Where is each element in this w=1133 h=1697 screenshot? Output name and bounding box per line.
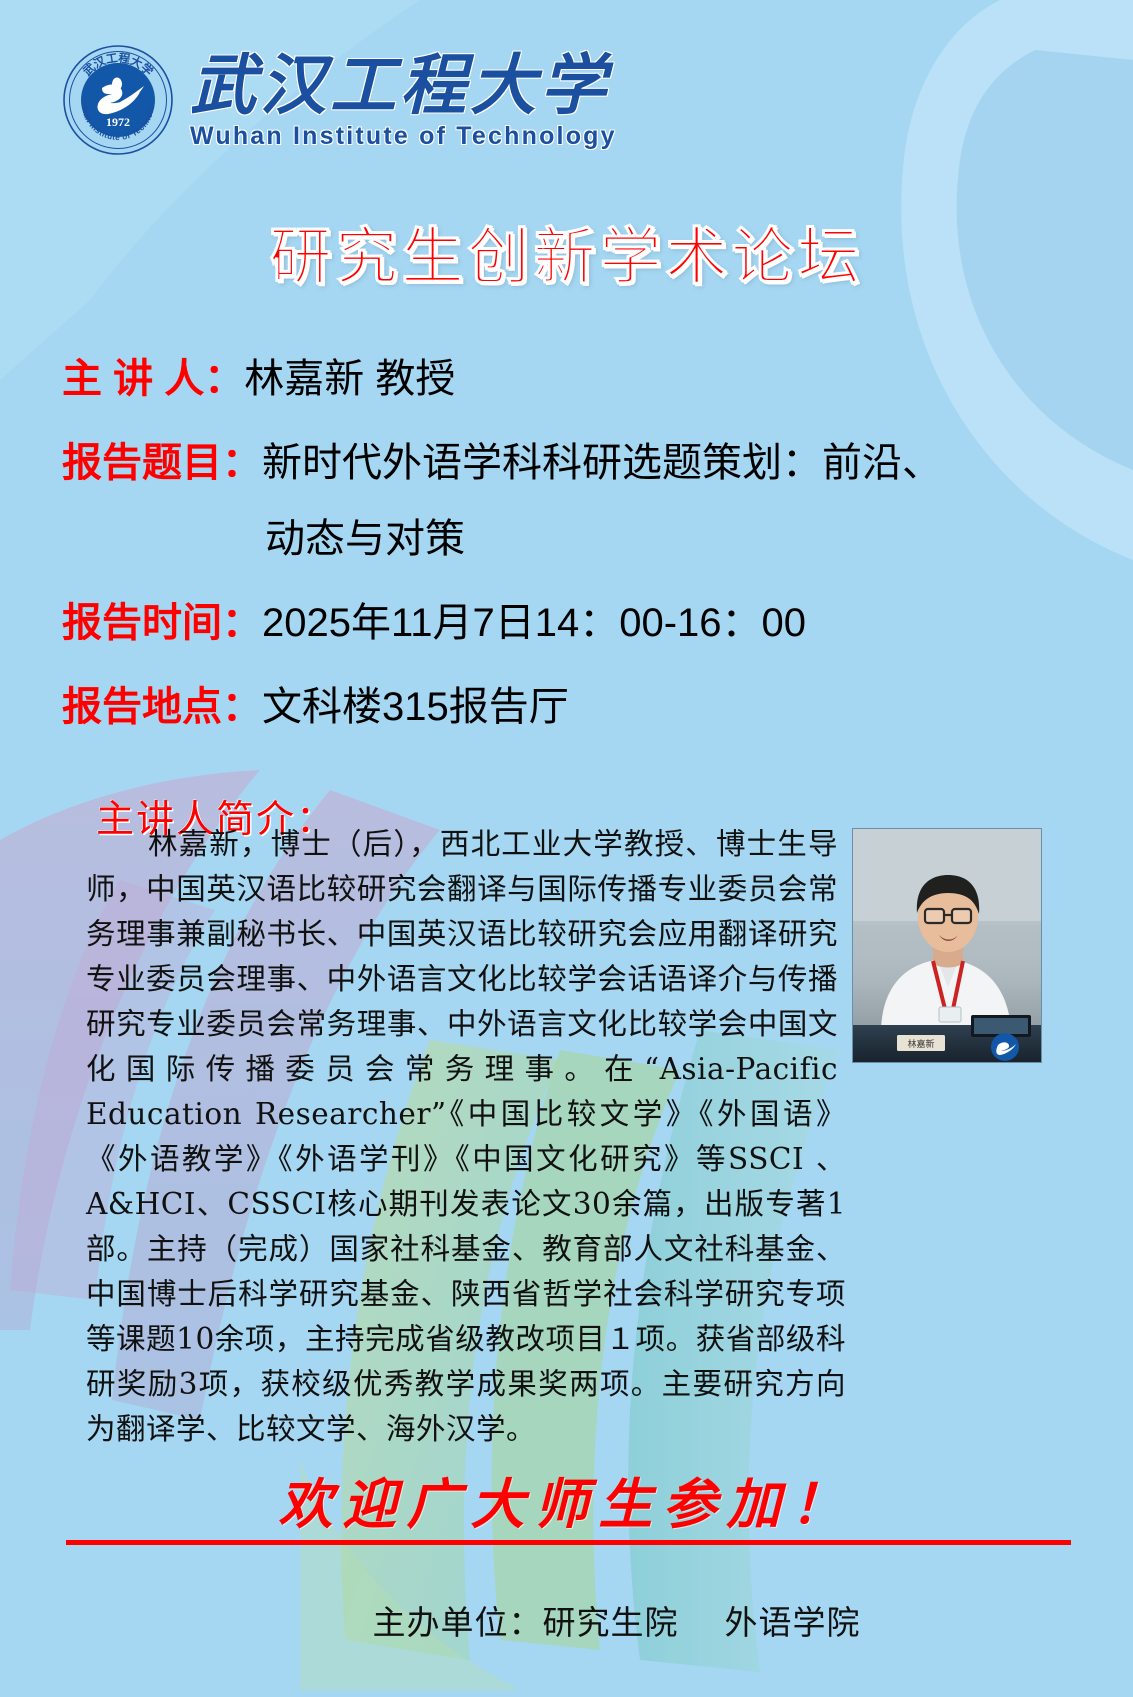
footer-divider (66, 1540, 1071, 1545)
footer-label: 主办单位： (373, 1604, 543, 1641)
wit-emblem-icon: 1972 武汉工程大学 Wuhan Institute of Technolog… (62, 44, 174, 156)
info-row-location: 报告地点： 文科楼315报告厅 (62, 674, 1062, 732)
university-name-en: Wuhan Institute of Technology (190, 124, 617, 149)
university-header: 1972 武汉工程大学 Wuhan Institute of Technolog… (62, 44, 617, 156)
info-value-time: 2025年11月7日14：00-16：00 (262, 590, 806, 648)
university-name-cn: 武汉工程大学 (190, 52, 617, 118)
info-row-topic: 报告题目： 新时代外语学科科研选题策划：前沿、 (62, 430, 1062, 488)
info-row-speaker: 主 讲 人： 林嘉新 教授 (62, 346, 1062, 404)
page-title: 研究生创新学术论坛 (0, 206, 1133, 296)
event-info-block: 主 讲 人： 林嘉新 教授 报告题目： 新时代外语学科科研选题策划：前沿、 动态… (62, 346, 1062, 758)
info-value-location: 文科楼315报告厅 (262, 674, 569, 732)
info-label-location: 报告地点： (62, 674, 262, 732)
footer-organizers: 主办单位：研究生院外语学院 (0, 1596, 1133, 1644)
info-label-topic: 报告题目： (62, 430, 262, 488)
info-value-topic-line2: 动态与对策 (62, 506, 1062, 564)
footer-org-1: 研究生院 (543, 1604, 679, 1641)
svg-text:林嘉新: 林嘉新 (907, 1038, 934, 1050)
poster-root: 1972 武汉工程大学 Wuhan Institute of Technolog… (0, 0, 1133, 1697)
info-label-speaker: 主 讲 人： (62, 346, 244, 404)
welcome-slogan: 欢迎广大师生参加！ (0, 1460, 1133, 1539)
speaker-photo-image: 林嘉新 (853, 829, 1042, 1063)
speaker-photo: 林嘉新 (852, 828, 1042, 1063)
bio-text: 林嘉新，博士（后），西北工业大学教授、博士生导师，中国英汉语比较研究会翻译与国际… (86, 822, 846, 1452)
bio-paragraph: 林嘉新，博士（后），西北工业大学教授、博士生导师，中国英汉语比较研究会翻译与国际… (86, 827, 846, 1446)
info-value-speaker: 林嘉新 教授 (244, 346, 455, 404)
footer-org-2: 外语学院 (725, 1604, 861, 1641)
bio-section: 林嘉新 林嘉新，博士（后），西北工业大学教授、博士生导师，中国英汉语比较研究会翻… (86, 822, 1046, 1452)
info-label-time: 报告时间： (62, 590, 262, 648)
svg-text:1972: 1972 (106, 115, 130, 129)
university-name-group: 武汉工程大学 Wuhan Institute of Technology (190, 52, 617, 149)
info-value-topic: 新时代外语学科科研选题策划：前沿、 (262, 430, 942, 488)
info-row-time: 报告时间： 2025年11月7日14：00-16：00 (62, 590, 1062, 648)
